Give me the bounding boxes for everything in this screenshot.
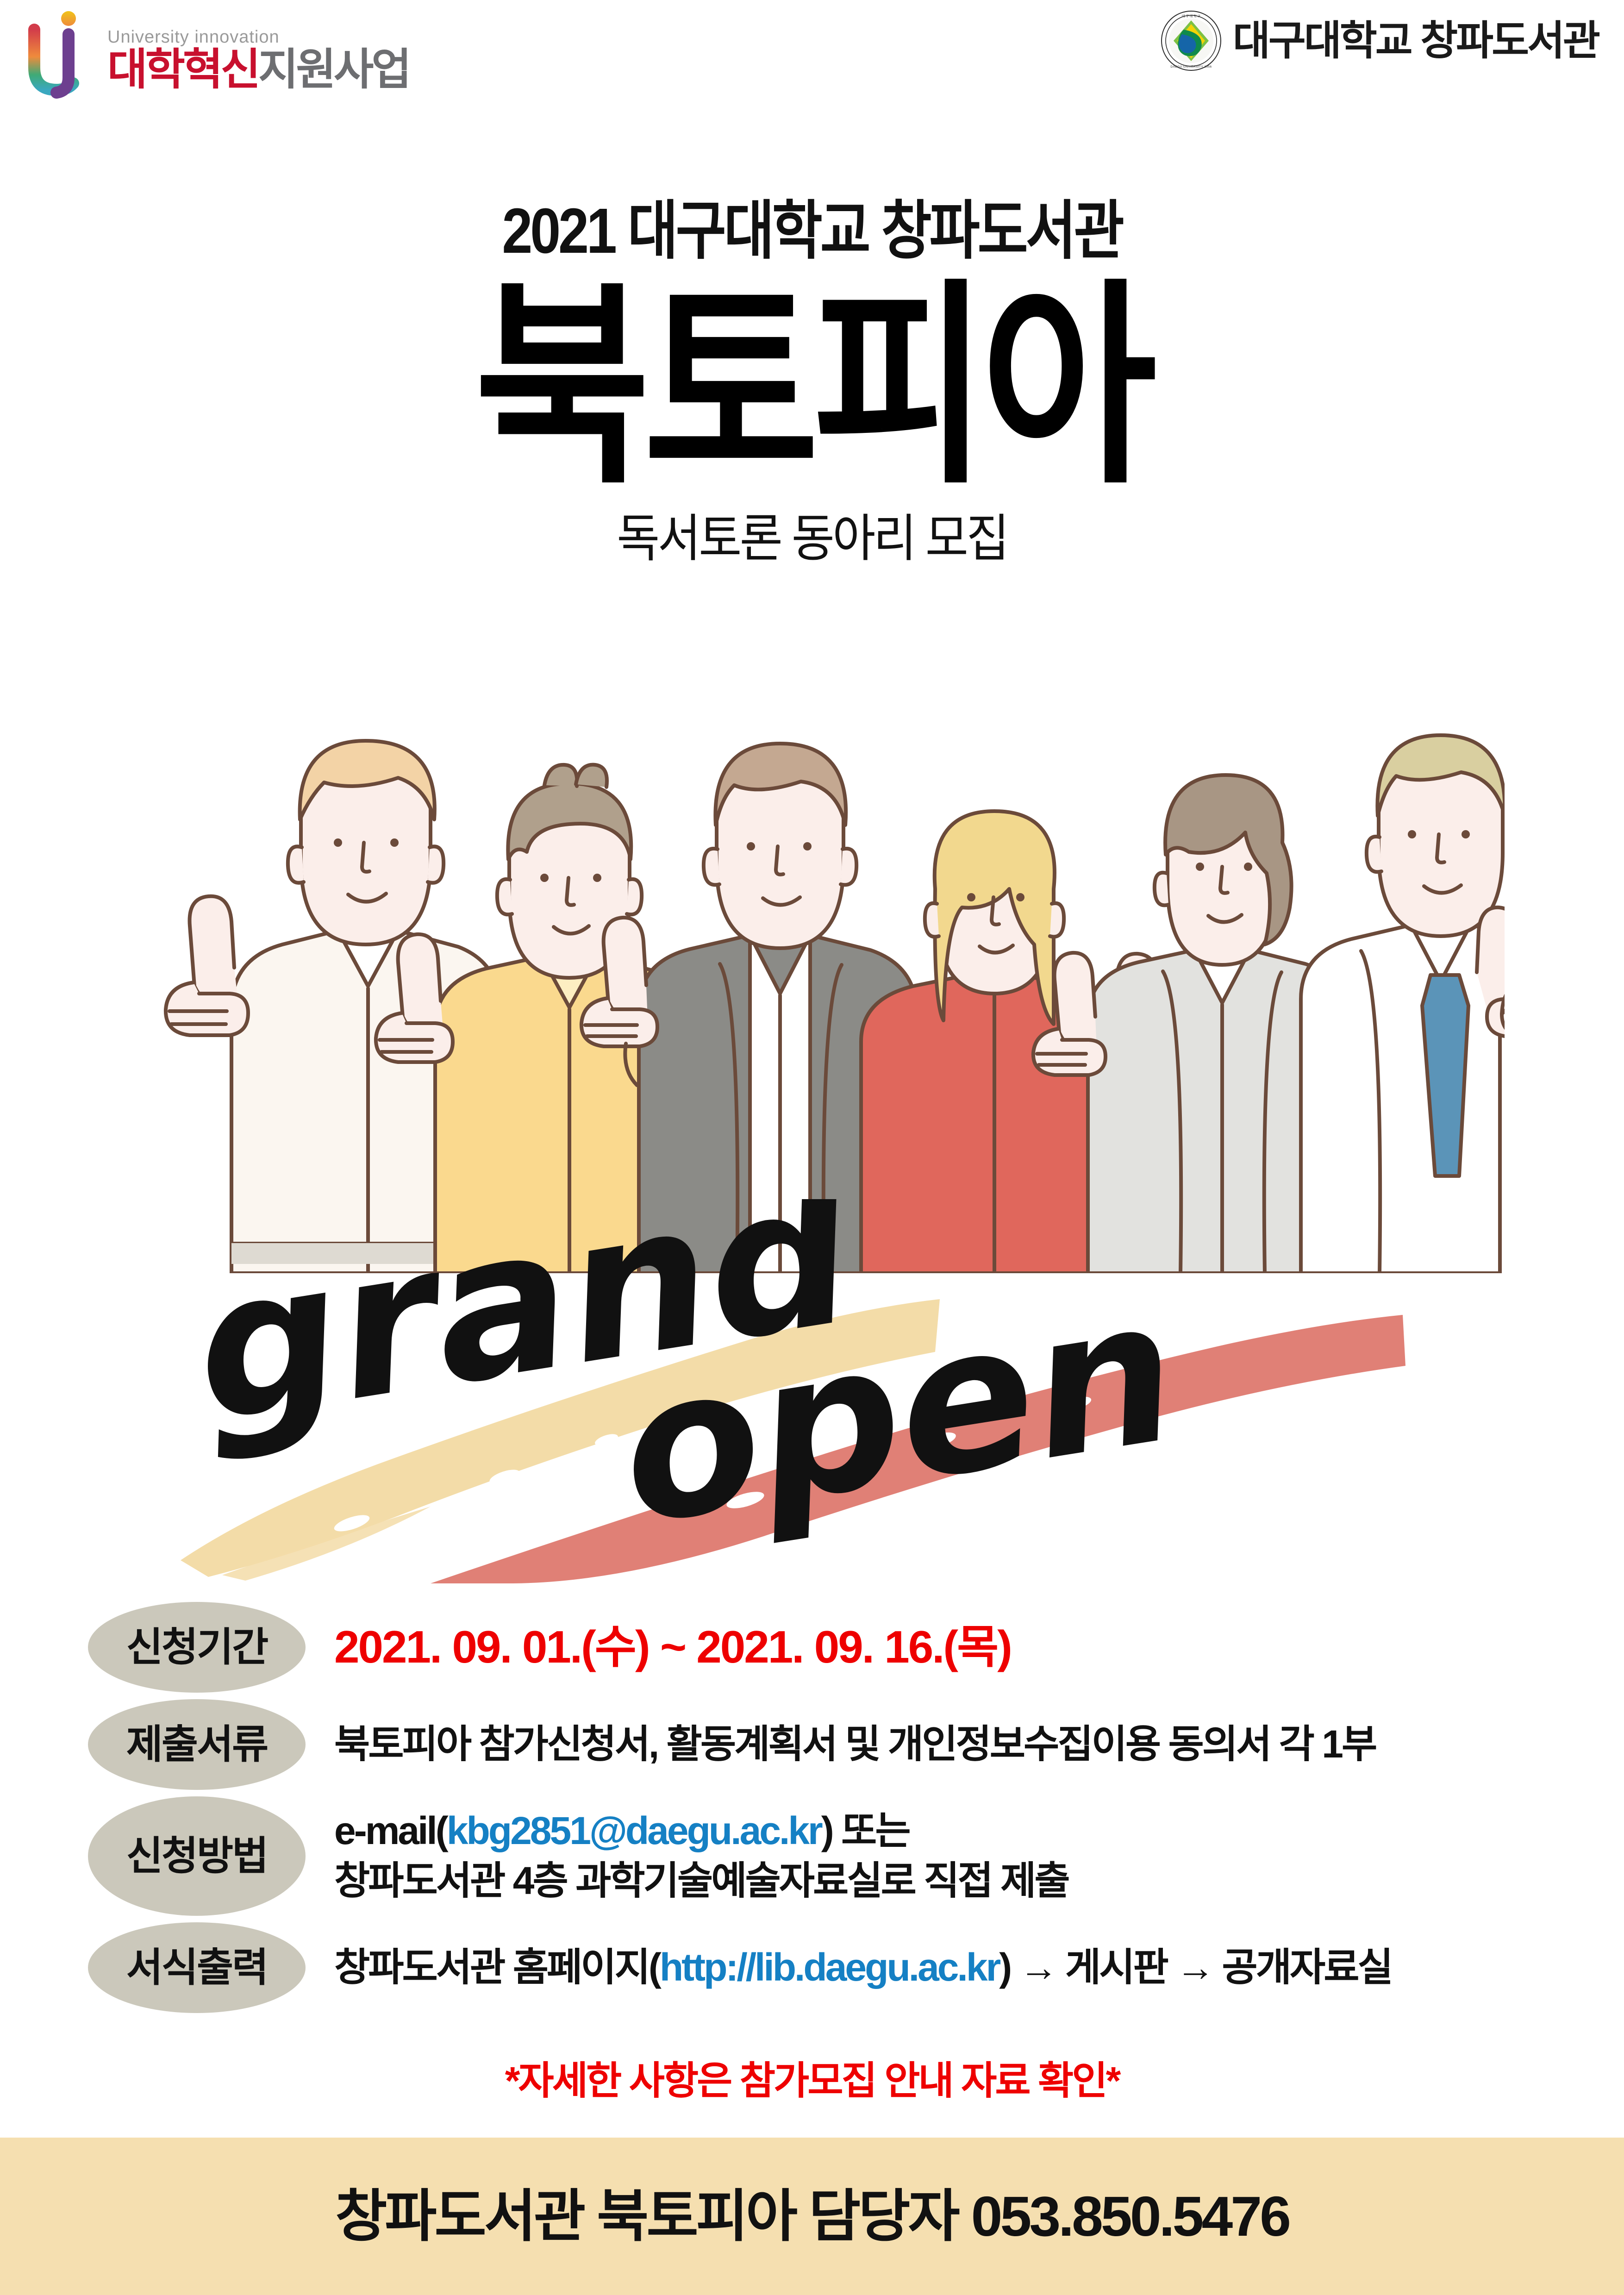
info-value-application-period: 2021. 09. 01.(수) ~ 2021. 09. 16.(목): [306, 1602, 1011, 1693]
person-6-male-blond-white-shirt-blue-tie: [1301, 735, 1505, 1273]
library-homepage-link[interactable]: http://lib.daegu.ac.kr: [660, 1945, 999, 1989]
info-row-form-download: 서식출력 창파도서관 홈페이지(http://lib.daegu.ac.kr) …: [88, 1922, 1560, 2013]
apply-line-2: 창파도서관 4층 과학기술예술자료실로 직접 제출: [334, 1856, 1068, 1906]
pill-label-form-download: 서식출력: [88, 1922, 306, 2013]
form-download-line: 창파도서관 홈페이지(http://lib.daegu.ac.kr) → 게시판…: [334, 1943, 1392, 1993]
poster-canvas: University innovation 대학혁신지원사업 대 구 대 학 교…: [0, 0, 1624, 2295]
footer-contact-text: 창파도서관 북토피아 담당자 053.850.5476: [335, 2188, 1289, 2245]
apply-prefix: e-mail(: [334, 1809, 447, 1852]
info-value-how-to-apply: e-mail(kbg2851@daegu.ac.kr) 또는 창파도서관 4층 …: [306, 1796, 1068, 1916]
application-period-dates: 2021. 09. 01.(수) ~ 2021. 09. 16.(목): [334, 1618, 1011, 1676]
page-title: 북토피아: [97, 276, 1526, 498]
apply-email-link[interactable]: kbg2851@daegu.ac.kr: [447, 1809, 821, 1852]
pill-label-how-to-apply: 신청방법: [88, 1796, 306, 1916]
info-row-documents: 제출서류 북토피아 참가신청서, 활동계획서 및 개인정보수집이용 동의서 각 …: [88, 1699, 1560, 1790]
pill-label-documents: 제출서류: [88, 1699, 306, 1790]
form-suffix: ) → 게시판 → 공개자료실: [999, 1945, 1392, 1989]
logo-kor-red: 대학혁신: [107, 45, 258, 94]
form-prefix: 창파도서관 홈페이지(: [334, 1945, 660, 1989]
library-name-label: 대구대학교 창파도서관: [1233, 20, 1599, 61]
daegu-university-seal-icon: 대 구 대 학 교 DAEGU UNIVERSITY 1956: [1161, 10, 1222, 71]
apply-suffix: ) 또는: [821, 1809, 909, 1852]
svg-text:DAEGU UNIVERSITY 1956: DAEGU UNIVERSITY 1956: [1170, 65, 1212, 69]
info-value-form-download: 창파도서관 홈페이지(http://lib.daegu.ac.kr) → 게시판…: [306, 1922, 1392, 2013]
info-row-application-period: 신청기간 2021. 09. 01.(수) ~ 2021. 09. 16.(목): [88, 1602, 1560, 1693]
daegu-library-logo: 대 구 대 학 교 DAEGU UNIVERSITY 1956 대구대학교 창파…: [1161, 10, 1599, 71]
footer-contact-bar: 창파도서관 북토피아 담당자 053.850.5476: [0, 2138, 1624, 2295]
university-innovation-logo: University innovation 대학혁신지원사업: [28, 8, 409, 99]
six-people-thumbs-up-illustration: [139, 602, 1505, 1273]
pill-label-application-period: 신청기간: [88, 1602, 306, 1693]
info-value-documents: 북토피아 참가신청서, 활동계획서 및 개인정보수집이용 동의서 각 1부: [306, 1699, 1375, 1790]
logo-kor-label: 대학혁신지원사업: [107, 48, 409, 91]
apply-line-1: e-mail(kbg2851@daegu.ac.kr) 또는: [334, 1806, 1068, 1856]
info-row-how-to-apply: 신청방법 e-mail(kbg2851@daegu.ac.kr) 또는 창파도서…: [88, 1796, 1560, 1916]
logo-eng-label: University innovation: [107, 28, 409, 46]
logo-kor-gray: 지원사업: [258, 45, 409, 94]
documents-text: 북토피아 참가신청서, 활동계획서 및 개인정보수집이용 동의서 각 1부: [334, 1720, 1375, 1770]
grand-open-lettering: grand open: [153, 1199, 1481, 1583]
uj-university-innovation-mark: [28, 8, 97, 99]
info-table: 신청기간 2021. 09. 01.(수) ~ 2021. 09. 16.(목)…: [88, 1602, 1560, 2020]
svg-text:대 구 대 학 교: 대 구 대 학 교: [1182, 14, 1201, 18]
title-subtitle: 독서토론 동아리 모집: [65, 513, 1559, 564]
title-block: 2021 대구대학교 창파도서관 북토피아 독서토론 동아리 모집: [0, 199, 1624, 564]
detail-note: *자세한 사항은 참가모집 안내 자료 확인*: [0, 2061, 1624, 2100]
title-eyebrow: 2021 대구대학교 창파도서관: [114, 199, 1511, 263]
